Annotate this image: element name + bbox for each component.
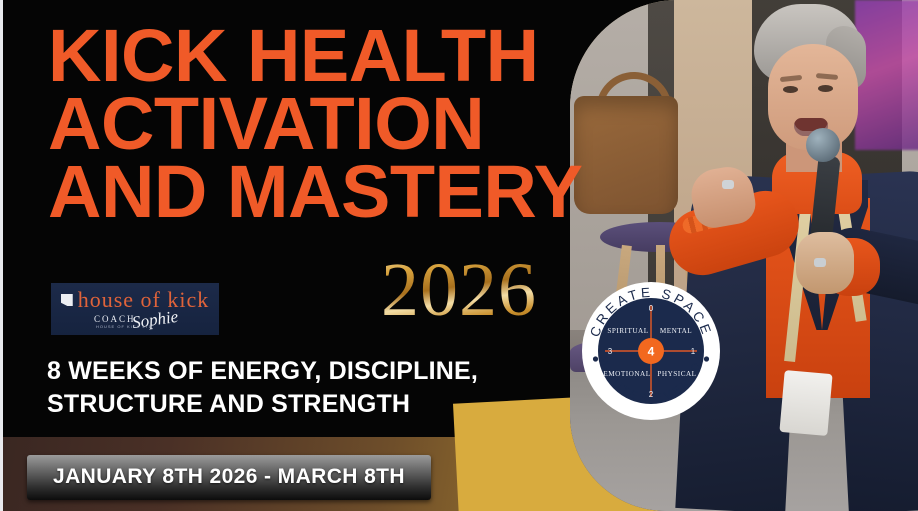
- date-badge: JANUARY 8TH 2026 - MARCH 8TH: [27, 455, 431, 500]
- eye: [783, 86, 798, 93]
- microphone-head: [806, 128, 840, 162]
- date-range-text: JANUARY 8TH 2026 - MARCH 8TH: [53, 465, 405, 488]
- emblem-number-top: 0: [649, 304, 654, 313]
- logo-wordmark-row: house of kick: [61, 289, 210, 311]
- house-of-kick-logo: house of kick COACH Sophie HOUSE OF KICK…: [51, 283, 219, 335]
- tagline-line-1: 8 WEEKS OF ENERGY, DISCIPLINE,: [47, 355, 547, 388]
- create-space-emblem: CREATE SPACE 4 MINUTES EVERYDAY 0 1 2 3 …: [581, 281, 721, 421]
- emblem-dot-left: [593, 356, 598, 361]
- tagline: 8 WEEKS OF ENERGY, DISCIPLINE, STRUCTURE…: [47, 355, 547, 420]
- emblem-number-right: 1: [691, 347, 696, 356]
- page-title: KICK HEALTH ACTIVATION AND MASTERY: [48, 22, 558, 226]
- emblem-center-number: 4: [648, 345, 655, 359]
- logo-mark-icon: [61, 294, 73, 306]
- headline-line-2: ACTIVATION: [48, 90, 558, 158]
- logo-wordmark: house of kick: [78, 289, 210, 311]
- ring: [722, 180, 734, 189]
- emblem-label-spiritual: SPIRITUAL: [607, 327, 648, 335]
- ring: [814, 258, 826, 267]
- year-text: 2026: [381, 252, 537, 328]
- emblem-svg: CREATE SPACE 4 MINUTES EVERYDAY 0 1 2 3 …: [581, 281, 721, 421]
- promotional-banner: KICK HEALTH ACTIVATION AND MASTERY 2026 …: [0, 0, 918, 511]
- logo-coach-label: COACH: [94, 314, 136, 324]
- speaker-figure: [626, 0, 918, 511]
- emblem-label-physical: PHYSICAL: [657, 370, 696, 378]
- headline-line-1: KICK HEALTH: [48, 22, 558, 90]
- logo-fine-print: HOUSE OF KICK LTD: [96, 324, 153, 329]
- logo-subtitle: COACH Sophie HOUSE OF KICK LTD: [80, 313, 190, 329]
- emblem-number-bottom: 2: [649, 390, 654, 399]
- emblem-label-mental: MENTAL: [660, 327, 692, 335]
- name-badge: [779, 370, 832, 436]
- emblem-label-emotional: EMOTIONAL: [603, 370, 650, 378]
- content-panel: KICK HEALTH ACTIVATION AND MASTERY 2026 …: [3, 0, 570, 511]
- headline-line-3: AND MASTERY: [48, 158, 558, 226]
- eye: [818, 85, 833, 92]
- photo-content: [570, 0, 918, 511]
- emblem-dot-right: [704, 356, 709, 361]
- speaker-photo: [570, 0, 918, 511]
- emblem-number-left: 3: [608, 347, 613, 356]
- tagline-line-2: STRUCTURE AND STRENGTH: [47, 388, 547, 421]
